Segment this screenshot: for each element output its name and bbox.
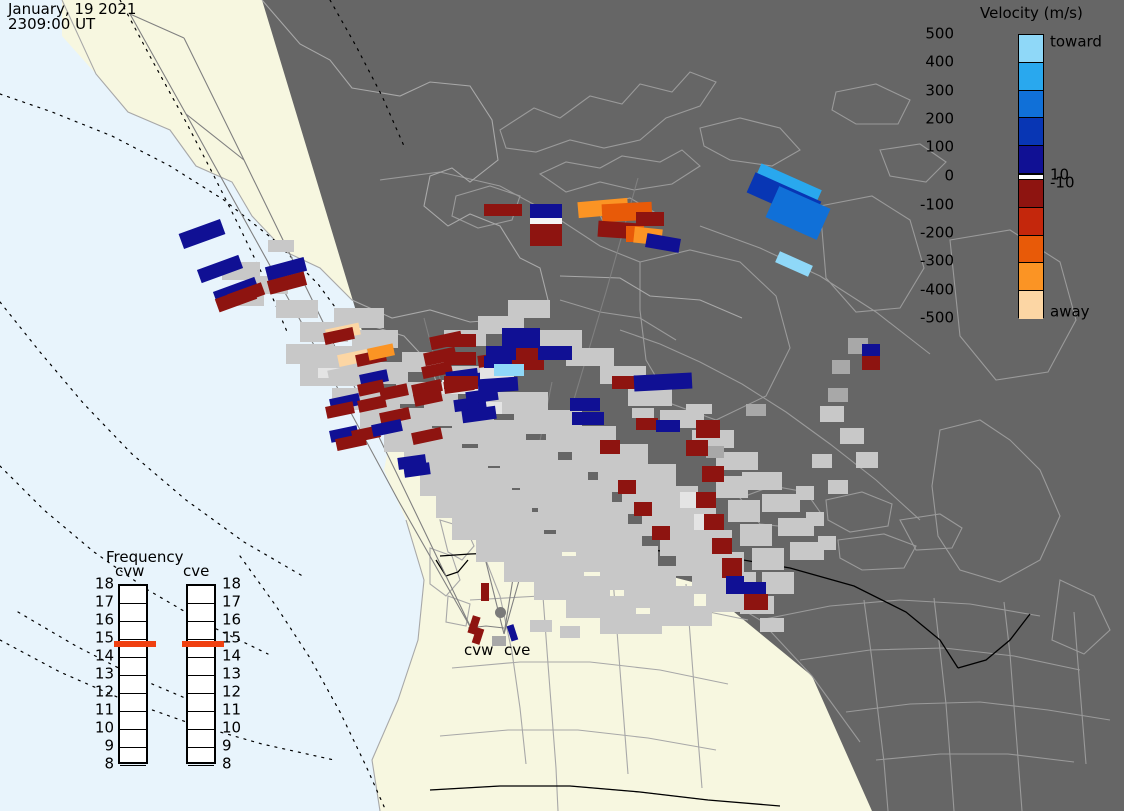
frequency-gauge-segment	[120, 658, 146, 676]
frequency-marker-cvw	[114, 641, 156, 647]
frequency-scale-tick-18: 18	[222, 577, 241, 592]
frequency-scale-tick-11: 11	[222, 703, 241, 718]
frequency-legend-panel: Frequency cvw18171615141312111098cve1817…	[88, 548, 238, 780]
colorbar-label-bottom: away	[1050, 305, 1090, 320]
frequency-gauge-segment	[188, 622, 214, 640]
velocity-colorbar-panel: Velocity (m/s) 5004003002001000-100-200-…	[960, 0, 1124, 340]
frequency-scale-tick-13: 13	[222, 667, 241, 682]
frequency-scale-tick-10: 10	[222, 721, 241, 736]
frequency-gauge-segment	[120, 622, 146, 640]
colorbar-title: Velocity (m/s)	[980, 4, 1124, 22]
colorbar-band	[1019, 91, 1043, 119]
frequency-scale-tick-13: 13	[95, 667, 114, 682]
radar-station-marker	[495, 607, 506, 618]
frequency-gauge-segment	[120, 676, 146, 694]
colorbar-band	[1019, 208, 1043, 236]
frequency-gauge-segment	[188, 586, 214, 604]
frequency-gauge-segment	[188, 730, 214, 748]
timestamp-block: January, 19 2021 2309:00 UT	[8, 2, 136, 32]
frequency-gauge-segment	[188, 676, 214, 694]
frequency-scale-tick-12: 12	[222, 685, 241, 700]
frequency-scale-tick-12: 12	[95, 685, 114, 700]
colorbar-band	[1019, 180, 1043, 208]
colorbar-band	[1019, 35, 1043, 63]
colorbar-band	[1019, 118, 1043, 146]
frequency-scale-cvw: 18171615141312111098	[88, 584, 114, 764]
frequency-scale-tick-15: 15	[222, 631, 241, 646]
colorbar-band	[1019, 146, 1043, 174]
radar-map-figure: January, 19 2021 2309:00 UT Velocity (m/…	[0, 0, 1124, 811]
frequency-scale-tick-15: 15	[95, 631, 114, 646]
frequency-gauge-cvw	[118, 584, 148, 764]
colorbar-band	[1019, 236, 1043, 264]
colorbar-tick-neg500: -500	[920, 311, 954, 326]
frequency-gauge-segment	[188, 712, 214, 730]
colorbar-tick-100: 100	[925, 140, 954, 155]
frequency-gauge-cve	[186, 584, 216, 764]
frequency-scale-tick-11: 11	[95, 703, 114, 718]
frequency-gauge-segment	[188, 658, 214, 676]
frequency-gauge-segment	[120, 712, 146, 730]
colorbar-tick-neg200: -200	[920, 225, 954, 240]
colorbar-band	[1019, 63, 1043, 91]
radar-site-label-cve: cve	[504, 643, 530, 658]
frequency-gauge-segment	[120, 604, 146, 622]
frequency-scale-tick-16: 16	[222, 613, 241, 628]
frequency-scale-tick-16: 16	[95, 613, 114, 628]
frequency-gauge-segment	[188, 604, 214, 622]
colorbar-tick-neg300: -300	[920, 254, 954, 269]
colorbar-band	[1019, 263, 1043, 291]
frequency-scale-tick-8: 8	[104, 757, 114, 772]
frequency-gauge-segment	[188, 694, 214, 712]
frequency-scale-tick-14: 14	[222, 649, 241, 664]
colorbar-label-top: toward	[1050, 35, 1102, 50]
frequency-scale-tick-14: 14	[95, 649, 114, 664]
colorbar-label-below-zero: -10	[1050, 176, 1075, 191]
timestamp-time: 2309:00 UT	[8, 17, 136, 32]
frequency-scale-tick-17: 17	[95, 595, 114, 610]
frequency-gauge-segment	[120, 586, 146, 604]
frequency-gauge-segment	[120, 694, 146, 712]
colorbar-side-labels: toward10-10away	[1050, 34, 1124, 318]
colorbar-tick-neg400: -400	[920, 282, 954, 297]
colorbar-tick-300: 300	[925, 83, 954, 98]
frequency-scale-tick-9: 9	[222, 739, 232, 754]
frequency-scale-tick-18: 18	[95, 577, 114, 592]
colorbar-tick-0: 0	[944, 169, 954, 184]
colorbar-tick-400: 400	[925, 55, 954, 70]
frequency-scale-cve: 18171615141312111098	[222, 584, 248, 764]
frequency-gauge-segment	[120, 730, 146, 748]
colorbar-tick-200: 200	[925, 112, 954, 127]
colorbar-gradient	[1018, 34, 1044, 318]
frequency-gauge-name-cve: cve	[183, 564, 209, 579]
colorbar-tick-500: 500	[925, 27, 954, 42]
frequency-gauge-name-cvw: cvw	[115, 564, 144, 579]
frequency-marker-cve	[182, 641, 224, 647]
colorbar-tick-labels: 5004003002001000-100-200-300-400-500	[902, 34, 1014, 318]
frequency-scale-tick-8: 8	[222, 757, 232, 772]
frequency-scale-tick-17: 17	[222, 595, 241, 610]
frequency-scale-tick-10: 10	[95, 721, 114, 736]
colorbar-band	[1019, 291, 1043, 319]
frequency-gauge-segment	[120, 748, 146, 766]
radar-site-label-cvw: cvw	[464, 643, 493, 658]
frequency-scale-tick-9: 9	[104, 739, 114, 754]
frequency-gauge-segment	[188, 748, 214, 766]
colorbar-tick-neg100: -100	[920, 197, 954, 212]
